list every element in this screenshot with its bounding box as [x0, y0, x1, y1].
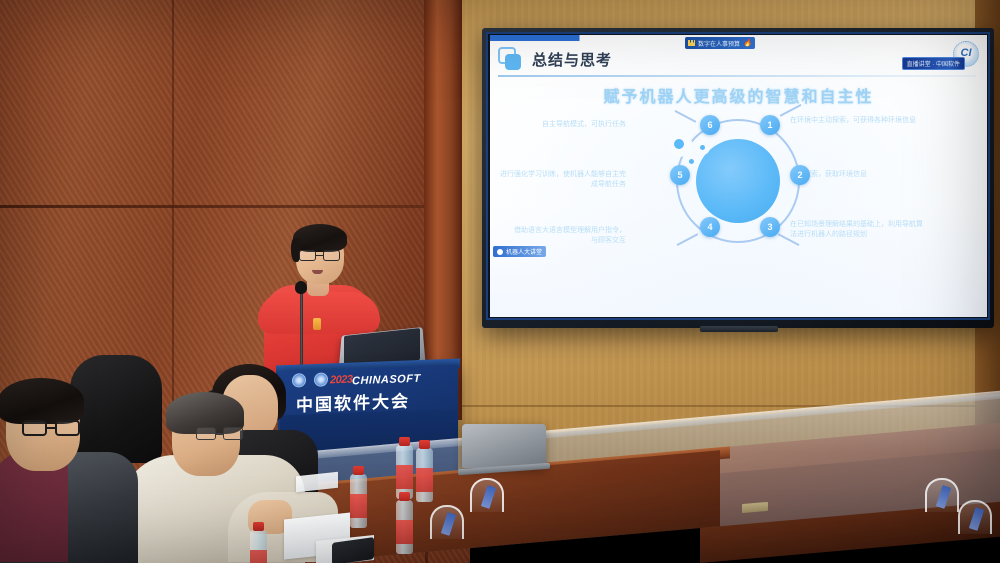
- record-dot-icon: [497, 249, 503, 255]
- conference-room-scene: 总结与思考 CI 数字在人事预算 🔥 直播讲堂 · 中国软件 机器人大讲堂 赋予…: [0, 0, 1000, 563]
- diagram-spoke-3: [778, 233, 800, 246]
- microphone-stem: [300, 288, 303, 374]
- water-bottle: [250, 530, 267, 563]
- stream-badge-bottom-text: 机器人大讲堂: [506, 247, 542, 256]
- slide-header-divider: [498, 75, 976, 77]
- stream-badge-right-text: 直播讲堂 · 中国软件: [907, 59, 960, 68]
- diagram-spoke-6: [674, 110, 696, 123]
- stream-badge-top: 数字在人事预算 🔥: [685, 37, 755, 49]
- diagram-node-1: 1: [760, 115, 780, 135]
- rounded-square-icon: [498, 47, 523, 71]
- wall-seam-horizontal: [0, 205, 470, 208]
- presentation-slide: 总结与思考 CI 数字在人事预算 🔥 直播讲堂 · 中国软件 机器人大讲堂 赋予…: [490, 35, 987, 317]
- signal-bars-icon: [688, 40, 695, 46]
- podium-chinese-title: 中国软件大会: [296, 387, 410, 416]
- slide-headline: 赋予机器人更高级的智慧和自主性: [490, 83, 987, 107]
- water-bottle: [396, 445, 413, 499]
- slide-header: 总结与思考: [498, 47, 612, 71]
- diagram-node-3: 3: [760, 217, 780, 237]
- presenter-badge: [313, 318, 321, 330]
- water-bottle: [396, 500, 413, 554]
- smartphone[interactable]: [332, 537, 374, 563]
- diagram-node-6: 6: [700, 115, 720, 135]
- diagram-spoke-4: [676, 233, 698, 246]
- presenter-hair: [293, 224, 347, 252]
- person-front-left-glasses-icon: [22, 420, 80, 436]
- stream-badge-top-text: 数字在人事预算: [698, 39, 740, 48]
- podium-year: 2023: [330, 374, 352, 387]
- display-screen-stand: [700, 326, 778, 332]
- diagram-node-4: 4: [700, 217, 720, 237]
- person-center-glasses-icon: [196, 427, 244, 440]
- slide-header-title: 总结与思考: [532, 49, 612, 70]
- flame-icon: 🔥: [743, 39, 752, 47]
- wood-pillar: [424, 0, 462, 420]
- emblem-left-icon: [292, 373, 306, 388]
- circular-process-diagram: 1 2 3 4 5 6: [648, 107, 828, 277]
- microphone-icon: [295, 281, 307, 294]
- macbook-on-table[interactable]: [462, 424, 546, 468]
- diagram-label-6: 自主导航模式，可执行任务: [508, 119, 626, 129]
- gear-medium-hole: [700, 145, 705, 150]
- diagram-label-5: 进行强化学习训练，使机器人能够自主完成导航任务: [498, 169, 626, 189]
- presenter-glasses-icon: [298, 250, 342, 261]
- podium-emblems: [292, 372, 328, 387]
- stream-badge-bottom: 机器人大讲堂: [493, 246, 546, 257]
- stream-badge-right: 直播讲堂 · 中国软件: [902, 57, 965, 70]
- gear-small-hole: [689, 159, 694, 164]
- water-bottle: [350, 474, 367, 528]
- diagram-node-5: 5: [670, 165, 690, 185]
- water-bottle: [416, 448, 433, 502]
- person-front-left-hair: [0, 378, 84, 424]
- emblem-right-icon: [314, 372, 328, 387]
- gear-large-hole: [674, 139, 684, 149]
- diagram-label-4: 借助语言大语言模型理解用户指令，与顾客交互: [508, 225, 626, 245]
- diagram-node-2: 2: [790, 165, 810, 185]
